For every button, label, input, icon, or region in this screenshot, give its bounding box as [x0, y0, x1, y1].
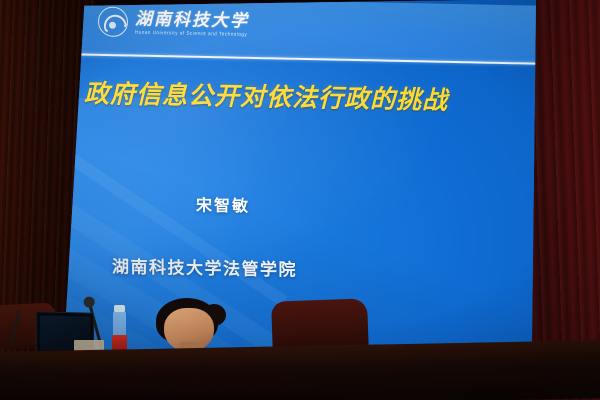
- university-emblem-icon: [98, 6, 128, 37]
- presentation-photo-scene: 湖南科技大学 Hunan University of Science and T…: [0, 0, 600, 400]
- slide-speaker-name: 宋智敏: [196, 192, 250, 217]
- presentation-desk: [0, 340, 600, 400]
- university-name-en: Hunan University of Science and Technolo…: [135, 30, 249, 37]
- university-name-cn: 湖南科技大学: [135, 10, 249, 29]
- slide-affiliation: 湖南科技大学法管学院: [112, 252, 297, 280]
- university-logo: 湖南科技大学 Hunan University of Science and T…: [98, 6, 249, 39]
- foreground-stage: [0, 280, 600, 400]
- university-logo-text: 湖南科技大学 Hunan University of Science and T…: [135, 10, 249, 37]
- water-bottle-cap: [114, 305, 125, 312]
